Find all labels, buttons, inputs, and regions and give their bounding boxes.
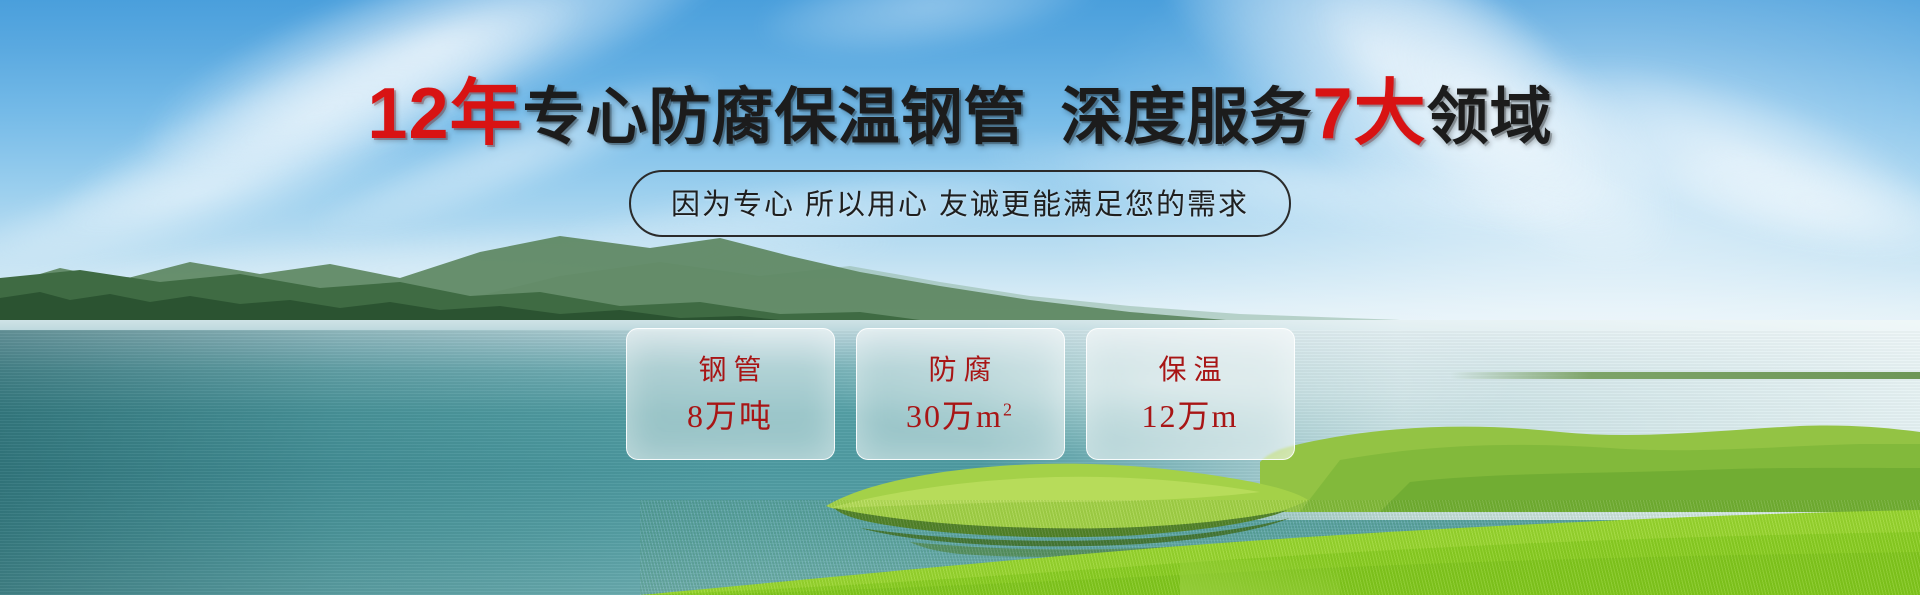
banner-headline: 12年专心防腐保温钢管深度服务7大领域 — [0, 78, 1920, 150]
headline-main-1: 专心防腐保温钢管 — [523, 87, 1027, 149]
headline-years: 12年 — [367, 78, 522, 150]
stat-card-value-text: 12万m — [1142, 398, 1239, 434]
banner-subtitle-wrap: 因为专心 所以用心 友诚更能满足您的需求 — [0, 170, 1920, 237]
stat-card-value-text: 8万吨 — [687, 398, 773, 434]
stat-card-value: 12万m — [1142, 400, 1239, 432]
stat-card-label: 防腐 — [921, 356, 998, 384]
headline-main-2: 深度服务 — [1061, 87, 1313, 149]
grass-sliver — [1180, 560, 1340, 595]
stat-card-insulation: 保温 12万m — [1086, 328, 1295, 460]
stat-card-value: 8万吨 — [687, 400, 773, 432]
stat-card-label: 保温 — [1151, 356, 1228, 384]
stat-card-anticorrosion: 防腐 30万m2 — [856, 328, 1065, 460]
headline-fields-count: 7大 — [1313, 78, 1427, 150]
stat-card-label: 钢管 — [691, 356, 768, 384]
stat-card-value-text: 30万m — [906, 398, 1003, 434]
stat-card-value-sup: 2 — [1003, 399, 1014, 419]
headline-main-3: 领域 — [1427, 87, 1553, 149]
stat-card-steel-pipe: 钢管 8万吨 — [626, 328, 835, 460]
banner-subtitle-pill: 因为专心 所以用心 友诚更能满足您的需求 — [629, 170, 1291, 237]
stat-card-value: 30万m2 — [906, 400, 1014, 432]
stat-card-group: 钢管 8万吨 防腐 30万m2 保温 12万m — [0, 328, 1920, 460]
promo-banner: 12年专心防腐保温钢管深度服务7大领域 因为专心 所以用心 友诚更能满足您的需求… — [0, 0, 1920, 595]
